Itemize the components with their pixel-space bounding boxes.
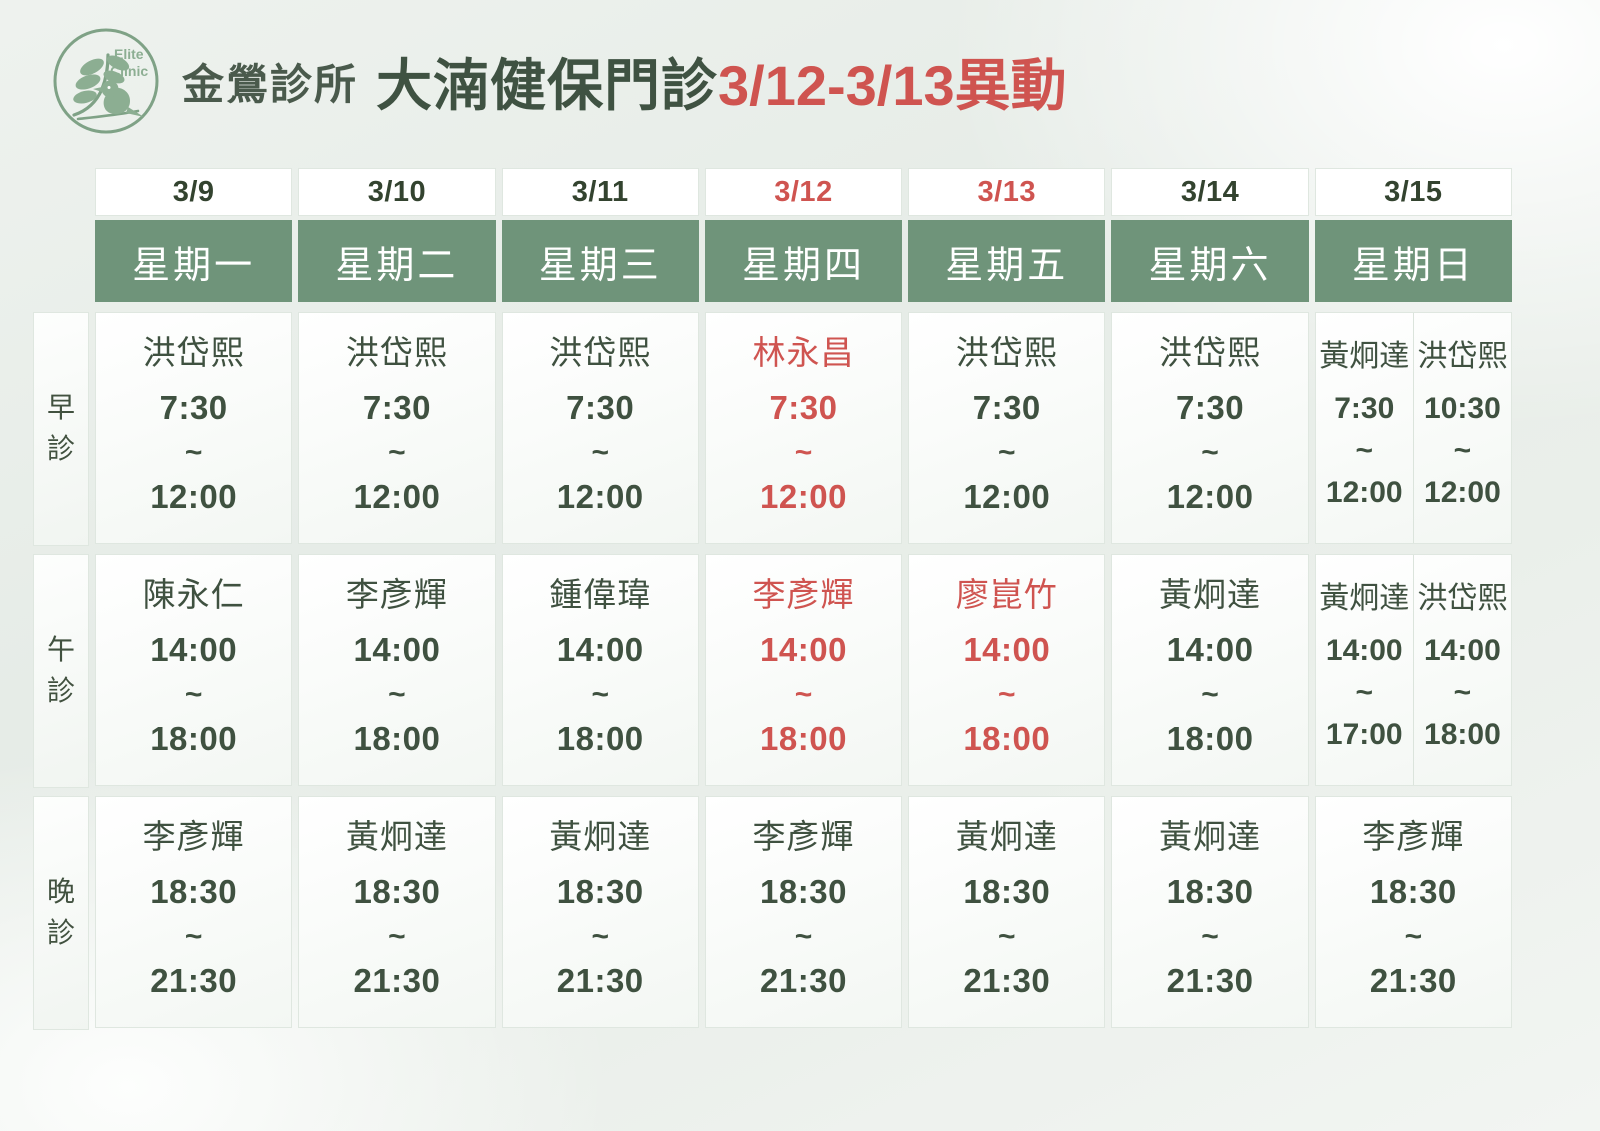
session-row-afternoon: 午 診 陳永仁 14:00 ~ 18:00 李彥輝 [30,554,1515,788]
time-separator: ~ [388,433,406,473]
session-label-evening: 晚 診 [33,796,89,1030]
slot-col-morning-4: 洪岱熙 7:30 ~ 12:00 [905,312,1108,546]
session-label-char: 早 [47,388,75,429]
time-separator: ~ [998,433,1016,473]
schedule-cell[interactable]: 洪岱熙 7:30 ~ 12:00 [502,312,699,544]
schedule-cell[interactable]: 洪岱熙 7:30 ~ 12:00 [1111,312,1308,544]
start-time: 7:30 [1176,386,1244,430]
page-title-accent: 3/12-3/13異動 [718,41,1067,122]
schedule-slot[interactable]: 洪岱熙 7:30 ~ 12:00 [1112,313,1307,543]
start-time: 18:30 [760,870,847,914]
doctor-name: 黃炯達 [549,817,651,857]
slot-col-morning-5: 洪岱熙 7:30 ~ 12:00 [1108,312,1311,546]
time-separator: ~ [388,675,406,715]
start-time: 7:30 [1334,389,1394,429]
time-separator: ~ [1355,673,1373,713]
time-separator: ~ [1355,431,1373,471]
date-header-row: 3/9 3/10 3/11 3/12 3/13 3/14 3/15 [30,168,1515,216]
schedule-slot[interactable]: 李彥輝 18:30 ~ 21:30 [96,797,291,1027]
start-time: 7:30 [160,386,228,430]
date-cell-changed: 3/13 [908,168,1105,216]
date-cell: 3/15 [1315,168,1512,216]
end-time: 18:00 [1424,715,1501,755]
time-separator: ~ [1201,917,1219,957]
weekday-cell: 星期日 [1315,220,1512,302]
slot-col-afternoon-1: 李彥輝 14:00 ~ 18:00 [295,554,498,788]
session-label-char: 診 [47,429,75,470]
slot-col-morning-2: 洪岱熙 7:30 ~ 12:00 [499,312,702,546]
start-time: 18:30 [150,870,237,914]
schedule-cell[interactable]: 李彥輝 18:30 ~ 21:30 [95,796,292,1028]
date-col-1: 3/10 [295,168,498,216]
doctor-name: 黃炯達 [1319,581,1409,617]
start-time: 7:30 [769,386,837,430]
doctor-name: 林永昌 [752,333,854,373]
schedule-slot[interactable]: 鍾偉瑋 14:00 ~ 18:00 [503,555,698,785]
date-col-5: 3/14 [1108,168,1311,216]
slot-col-afternoon-2: 鍾偉瑋 14:00 ~ 18:00 [499,554,702,788]
doctor-name: 洪岱熙 [1417,339,1507,375]
schedule-cell[interactable]: 洪岱熙 7:30 ~ 12:00 [95,312,292,544]
schedule-cell[interactable]: 李彥輝 18:30 ~ 21:30 [1315,796,1512,1028]
schedule-slot[interactable]: 黃炯達 14:00 ~ 17:00 [1316,555,1413,785]
time-separator: ~ [185,675,203,715]
schedule-slot[interactable]: 洪岱熙 7:30 ~ 12:00 [96,313,291,543]
weekday-cell: 星期一 [95,220,292,302]
doctor-name: 洪岱熙 [549,333,651,373]
weekday-cell: 星期五 [908,220,1105,302]
end-time: 21:30 [353,959,440,1003]
start-time: 7:30 [363,386,431,430]
weekday-col-5: 星期六 [1108,220,1311,302]
start-time: 18:30 [557,870,644,914]
schedule-slot[interactable]: 林永昌 7:30 ~ 12:00 [706,313,901,543]
schedule-cell[interactable]: 黃炯達 18:30 ~ 21:30 [298,796,495,1028]
schedule-slot[interactable]: 黃炯達 18:30 ~ 21:30 [1112,797,1307,1027]
start-time: 14:00 [1424,631,1501,671]
doctor-name: 黃炯達 [346,817,448,857]
doctor-name: 李彥輝 [143,817,245,857]
weekday-header-row: 星期一 星期二 星期三 星期四 星期五 星期六 星期日 [30,220,1515,302]
doctor-name: 黃炯達 [1159,817,1261,857]
schedule-slot[interactable]: 黃炯達 18:30 ~ 21:30 [909,797,1104,1027]
start-time: 18:30 [353,870,440,914]
schedule-grid: 3/9 3/10 3/11 3/12 3/13 3/14 3/15 [30,168,1515,1038]
start-time: 14:00 [557,628,644,672]
weekday-cell: 星期三 [502,220,699,302]
doctor-name: 鍾偉瑋 [549,575,651,615]
schedule-cell[interactable]: 鍾偉瑋 14:00 ~ 18:00 [502,554,699,786]
time-separator: ~ [998,675,1016,715]
start-time: 10:30 [1424,389,1501,429]
end-time: 12:00 [557,475,644,519]
time-separator: ~ [185,433,203,473]
corner-spacer-date [30,168,92,216]
weekday-col-2: 星期三 [499,220,702,302]
end-time: 21:30 [963,959,1050,1003]
schedule-cell-split[interactable]: 黃炯達 14:00 ~ 17:00 洪岱熙 14:00 ~ 18:00 [1315,554,1512,786]
start-time: 7:30 [566,386,634,430]
doctor-name: 李彥輝 [346,575,448,615]
time-separator: ~ [795,433,813,473]
end-time: 21:30 [150,959,237,1003]
doctor-name: 李彥輝 [752,575,854,615]
schedule-slot[interactable]: 廖崑竹 14:00 ~ 18:00 [909,555,1104,785]
session-label-char: 診 [47,913,75,954]
start-time: 14:00 [760,628,847,672]
schedule-cell[interactable]: 陳永仁 14:00 ~ 18:00 [95,554,292,786]
session-row-evening: 晚 診 李彥輝 18:30 ~ 21:30 黃炯達 [30,796,1515,1030]
start-time: 14:00 [150,628,237,672]
doctor-name: 洪岱熙 [346,333,448,373]
schedule-cell[interactable]: 黃炯達 18:30 ~ 21:30 [502,796,699,1028]
doctor-name: 廖崑竹 [956,575,1058,615]
schedule-cell[interactable]: 黃炯達 18:30 ~ 21:30 [1111,796,1308,1028]
clinic-name: 金鶯診所 [182,51,358,112]
end-time: 21:30 [760,959,847,1003]
end-time: 12:00 [1424,473,1501,513]
end-time: 12:00 [1326,473,1403,513]
start-time: 14:00 [1167,628,1254,672]
session-row-morning: 早 診 洪岱熙 7:30 ~ 12:00 洪岱熙 [30,312,1515,546]
end-time: 12:00 [760,475,847,519]
weekday-cell: 星期四 [705,220,902,302]
date-cell: 3/10 [298,168,495,216]
session-label-afternoon-col: 午 診 [30,554,92,788]
time-separator: ~ [591,433,609,473]
schedule-cell-split[interactable]: 黃炯達 7:30 ~ 12:00 洪岱熙 10:30 ~ 12:00 [1315,312,1512,544]
doctor-name: 洪岱熙 [1159,333,1261,373]
doctor-name: 黃炯達 [1159,575,1261,615]
slot-col-evening-3: 李彥輝 18:30 ~ 21:30 [702,796,905,1030]
end-time: 18:00 [760,717,847,761]
schedule-slot[interactable]: 洪岱熙 7:30 ~ 12:00 [299,313,494,543]
end-time: 18:00 [150,717,237,761]
slot-col-morning-3: 林永昌 7:30 ~ 12:00 [702,312,905,546]
end-time: 21:30 [1167,959,1254,1003]
weekday-col-1: 星期二 [295,220,498,302]
session-label-afternoon: 午 診 [33,554,89,788]
time-separator: ~ [1405,917,1423,957]
time-separator: ~ [795,675,813,715]
doctor-name: 黃炯達 [956,817,1058,857]
time-separator: ~ [388,917,406,957]
schedule-cell[interactable]: 洪岱熙 7:30 ~ 12:00 [908,312,1105,544]
end-time: 18:00 [963,717,1050,761]
time-separator: ~ [591,675,609,715]
start-time: 14:00 [353,628,440,672]
time-separator: ~ [1201,675,1219,715]
session-label-char: 午 [47,630,75,671]
schedule-slot[interactable]: 黃炯達 18:30 ~ 21:30 [503,797,698,1027]
date-col-0: 3/9 [92,168,295,216]
date-cell: 3/14 [1111,168,1308,216]
session-label-morning: 早 診 [33,312,89,546]
time-separator: ~ [795,917,813,957]
date-col-3: 3/12 [702,168,905,216]
schedule-slot[interactable]: 黃炯達 14:00 ~ 18:00 [1112,555,1307,785]
logo-line2-text: Clinic [110,63,148,79]
slot-col-morning-6: 黃炯達 7:30 ~ 12:00 洪岱熙 10:30 ~ 12:00 [1312,312,1515,546]
schedule-cell[interactable]: 李彥輝 14:00 ~ 18:00 [298,554,495,786]
time-separator: ~ [998,917,1016,957]
start-time: 14:00 [963,628,1050,672]
start-time: 18:30 [1167,870,1254,914]
weekday-col-4: 星期五 [905,220,1108,302]
doctor-name: 李彥輝 [1362,817,1464,857]
time-separator: ~ [1454,431,1472,471]
session-label-char: 診 [47,671,75,712]
slot-col-evening-6: 李彥輝 18:30 ~ 21:30 [1312,796,1515,1030]
session-label-morning-col: 早 診 [30,312,92,546]
corner-spacer-weekday [30,220,92,302]
weekday-col-6: 星期日 [1312,220,1515,302]
schedule-slot[interactable]: 李彥輝 18:30 ~ 21:30 [706,797,901,1027]
page-header: Elite Clinic 金鶯診所 大湳健保門診 3/12-3/13異動 [0,0,1600,128]
slot-col-afternoon-5: 黃炯達 14:00 ~ 18:00 [1108,554,1311,788]
date-col-2: 3/11 [499,168,702,216]
session-label-char: 晚 [47,872,75,913]
slot-col-evening-0: 李彥輝 18:30 ~ 21:30 [92,796,295,1030]
page-title: 大湳健保門診 [376,41,718,122]
slot-col-evening-4: 黃炯達 18:30 ~ 21:30 [905,796,1108,1030]
date-col-4: 3/13 [905,168,1108,216]
slot-col-evening-1: 黃炯達 18:30 ~ 21:30 [295,796,498,1030]
logo-line1-text: Elite [114,46,144,62]
schedule-slot[interactable]: 洪岱熙 10:30 ~ 12:00 [1413,313,1511,543]
schedule-slot[interactable]: 李彥輝 14:00 ~ 18:00 [299,555,494,785]
doctor-name: 洪岱熙 [143,333,245,373]
date-cell: 3/9 [95,168,292,216]
slot-col-morning-1: 洪岱熙 7:30 ~ 12:00 [295,312,498,546]
start-time: 18:30 [1370,870,1457,914]
schedule-cell[interactable]: 洪岱熙 7:30 ~ 12:00 [298,312,495,544]
schedule-cell-changed[interactable]: 廖崑竹 14:00 ~ 18:00 [908,554,1105,786]
end-time: 18:00 [557,717,644,761]
slot-col-morning-0: 洪岱熙 7:30 ~ 12:00 [92,312,295,546]
session-label-evening-col: 晚 診 [30,796,92,1030]
start-time: 14:00 [1326,631,1403,671]
schedule-page: Elite Clinic 金鶯診所 大湳健保門診 3/12-3/13異動 3/9… [0,0,1600,1131]
end-time: 17:00 [1326,715,1403,755]
time-separator: ~ [591,917,609,957]
schedule-slot[interactable]: 黃炯達 18:30 ~ 21:30 [299,797,494,1027]
end-time: 21:30 [557,959,644,1003]
weekday-col-0: 星期一 [92,220,295,302]
end-time: 18:00 [1167,717,1254,761]
time-separator: ~ [1201,433,1219,473]
start-time: 18:30 [963,870,1050,914]
time-separator: ~ [1454,673,1472,713]
doctor-name: 洪岱熙 [956,333,1058,373]
slot-col-evening-2: 黃炯達 18:30 ~ 21:30 [499,796,702,1030]
doctor-name: 李彥輝 [752,817,854,857]
date-cell: 3/11 [502,168,699,216]
doctor-name: 陳永仁 [143,575,245,615]
schedule-slot[interactable]: 黃炯達 7:30 ~ 12:00 [1316,313,1413,543]
end-time: 12:00 [963,475,1050,519]
schedule-slot[interactable]: 李彥輝 18:30 ~ 21:30 [1316,797,1511,1027]
start-time: 7:30 [973,386,1041,430]
schedule-slot[interactable]: 李彥輝 14:00 ~ 18:00 [706,555,901,785]
doctor-name: 洪岱熙 [1417,581,1507,617]
slot-col-afternoon-3: 李彥輝 14:00 ~ 18:00 [702,554,905,788]
slot-col-afternoon-0: 陳永仁 14:00 ~ 18:00 [92,554,295,788]
schedule-slot[interactable]: 洪岱熙 14:00 ~ 18:00 [1413,555,1511,785]
schedule-slot[interactable]: 洪岱熙 7:30 ~ 12:00 [909,313,1104,543]
end-time: 18:00 [353,717,440,761]
schedule-slot[interactable]: 洪岱熙 7:30 ~ 12:00 [503,313,698,543]
weekday-cell: 星期二 [298,220,495,302]
date-col-6: 3/15 [1312,168,1515,216]
schedule-cell[interactable]: 黃炯達 18:30 ~ 21:30 [908,796,1105,1028]
end-time: 21:30 [1370,959,1457,1003]
end-time: 12:00 [1167,475,1254,519]
clinic-logo: Elite Clinic [52,27,160,135]
schedule-cell[interactable]: 李彥輝 18:30 ~ 21:30 [705,796,902,1028]
slot-col-evening-5: 黃炯達 18:30 ~ 21:30 [1108,796,1311,1030]
end-time: 12:00 [353,475,440,519]
schedule-cell[interactable]: 黃炯達 14:00 ~ 18:00 [1111,554,1308,786]
weekday-cell: 星期六 [1111,220,1308,302]
date-cell-changed: 3/12 [705,168,902,216]
time-separator: ~ [185,917,203,957]
end-time: 12:00 [150,475,237,519]
schedule-cell-changed[interactable]: 林永昌 7:30 ~ 12:00 [705,312,902,544]
schedule-cell-changed[interactable]: 李彥輝 14:00 ~ 18:00 [705,554,902,786]
schedule-slot[interactable]: 陳永仁 14:00 ~ 18:00 [96,555,291,785]
weekday-col-3: 星期四 [702,220,905,302]
slot-col-afternoon-4: 廖崑竹 14:00 ~ 18:00 [905,554,1108,788]
slot-col-afternoon-6: 黃炯達 14:00 ~ 17:00 洪岱熙 14:00 ~ 18:00 [1312,554,1515,788]
doctor-name: 黃炯達 [1319,339,1409,375]
